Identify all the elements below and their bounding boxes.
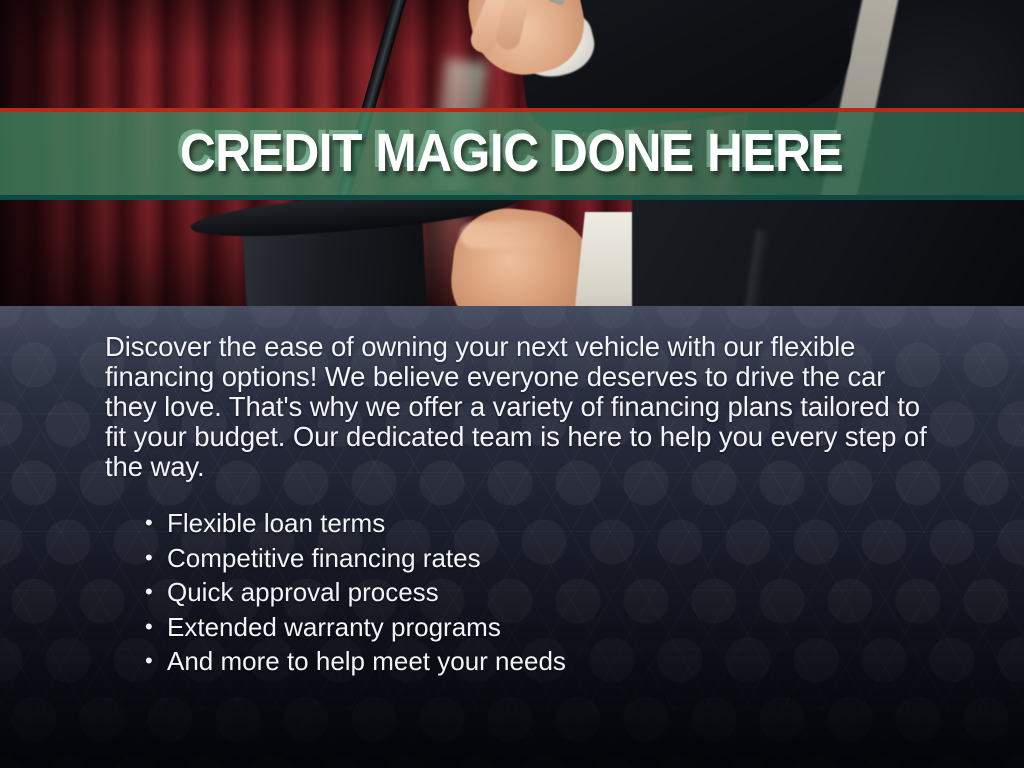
headline-banner: CREDIT MAGIC DONE HERE [0,108,1024,200]
intro-paragraph: Discover the ease of owning your next ve… [105,332,927,482]
magician-suit-lower [632,196,1024,306]
list-item: And more to help meet your needs [145,644,566,679]
slide-canvas: CREDIT MAGIC DONE HERE Discover the ease… [0,0,1024,768]
list-item: Competitive financing rates [145,541,566,576]
content-panel: Discover the ease of owning your next ve… [0,306,1024,768]
list-item: Quick approval process [145,575,566,610]
list-item: Extended warranty programs [145,610,566,645]
feature-list: Flexible loan terms Competitive financin… [145,506,566,679]
hand-knuckles-highlight [460,222,570,248]
content-inner: Discover the ease of owning your next ve… [0,306,1024,768]
list-item: Flexible loan terms [145,506,566,541]
page-title: CREDIT MAGIC DONE HERE [180,126,843,182]
